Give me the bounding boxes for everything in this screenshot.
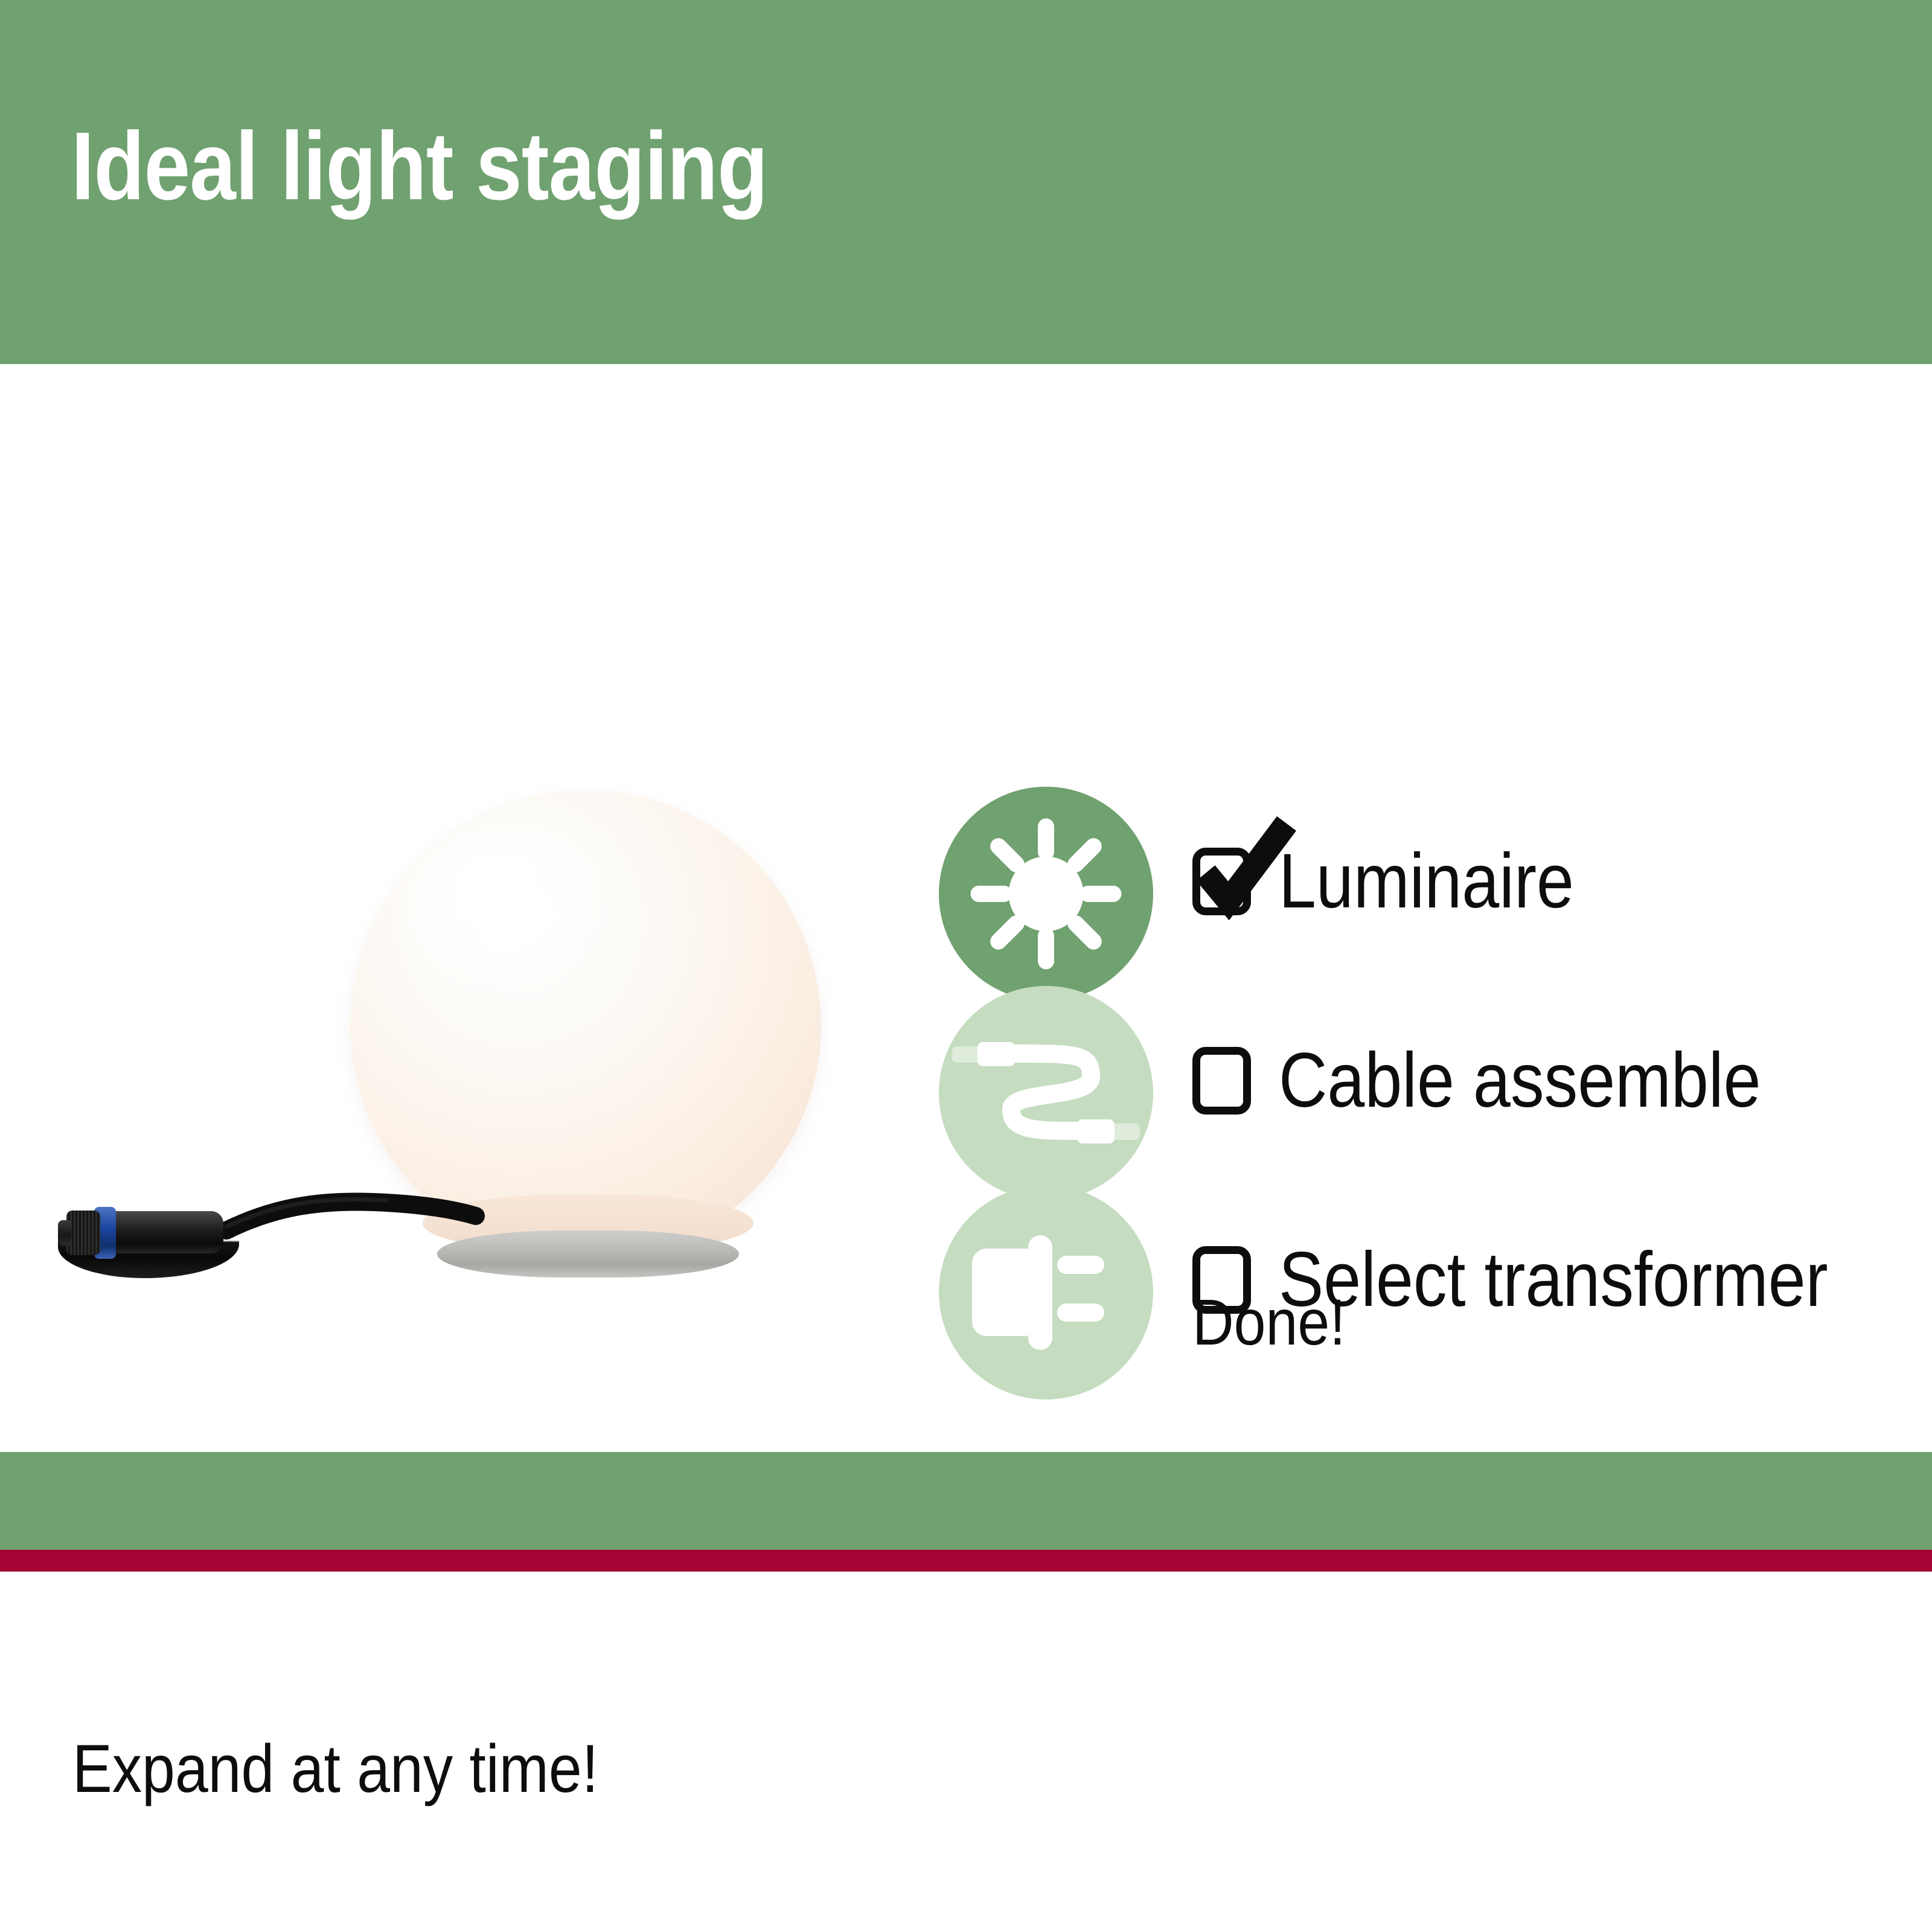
checklist-label-transformer: Select transformer xyxy=(1279,1233,1828,1327)
checklist-row-cable[interactable]: Cable assemble xyxy=(939,986,1881,1185)
footer-red-band xyxy=(0,1550,1932,1572)
plug-icon xyxy=(939,1185,1153,1399)
sun-icon xyxy=(939,787,1153,1001)
globe-highlight xyxy=(398,823,628,1004)
footer-text: Expand at any time! xyxy=(72,1727,598,1811)
connector-nose xyxy=(58,1220,71,1246)
checklist-label-luminaire: Luminaire xyxy=(1279,834,1574,929)
done-label: Done! xyxy=(1192,1283,1346,1361)
cable-icon xyxy=(939,986,1153,1200)
checkbox-group-luminaire[interactable]: Luminaire xyxy=(1192,834,1881,955)
globe-base-ring xyxy=(437,1230,739,1278)
checklist: Luminaire Cable assemble xyxy=(939,787,1881,1384)
main-content-area: Luminaire Cable assemble xyxy=(0,364,1932,1452)
checkbox-cable[interactable] xyxy=(1192,1047,1251,1115)
checkbox-group-cable[interactable]: Cable assemble xyxy=(1192,1034,1881,1154)
product-image xyxy=(36,557,857,1330)
checklist-row-transformer[interactable]: Select transformer xyxy=(939,1185,1881,1384)
checklist-row-luminaire[interactable]: Luminaire xyxy=(939,787,1881,986)
connector-knurled-cap xyxy=(66,1211,100,1255)
connector-body xyxy=(100,1211,223,1253)
checklist-label-cable: Cable assemble xyxy=(1279,1034,1761,1128)
header-band: Ideal light staging xyxy=(0,0,1932,364)
page-title: Ideal light staging xyxy=(71,112,767,220)
footer-green-band xyxy=(0,1452,1932,1550)
checkbox-luminaire[interactable] xyxy=(1192,848,1251,915)
